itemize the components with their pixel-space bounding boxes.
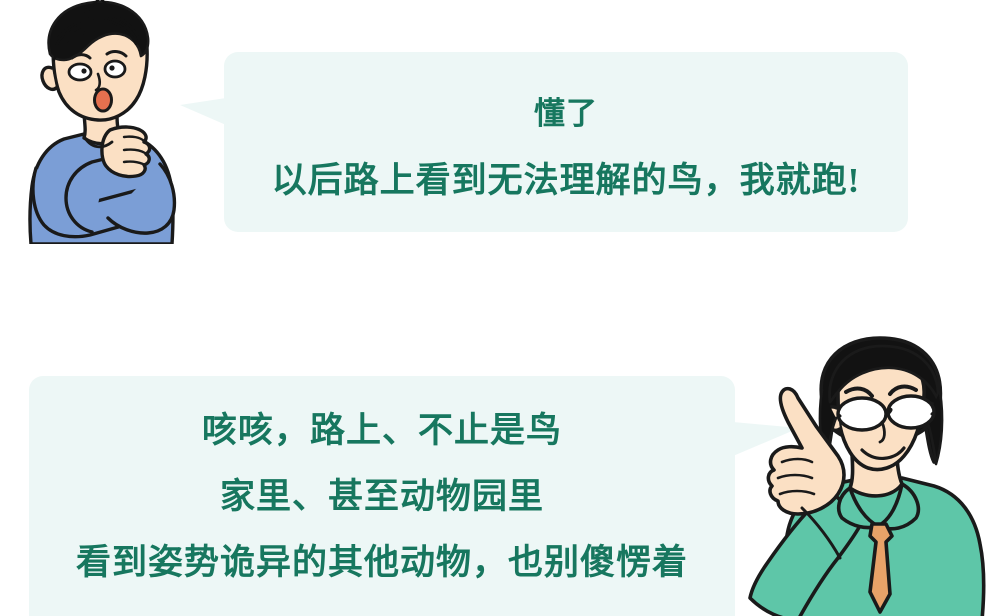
- boy-body: [30, 0, 174, 244]
- comic-panel: 懂了 以后路上看到无法理解的鸟，我就跑! 咳咳，路上、不止是鸟 家里、甚至动物园…: [0, 0, 992, 616]
- boy-character-illustration: [0, 0, 200, 244]
- teacher-body: [750, 338, 984, 616]
- speech-bubble-top: 懂了 以后路上看到无法理解的鸟，我就跑!: [224, 52, 908, 232]
- speech-bubble-bottom-line-3: 看到姿势诡异的其他动物，也别傻愣着: [29, 534, 735, 585]
- teacher-character-illustration: [690, 330, 992, 616]
- speech-bubble-bottom-line-1: 咳咳，路上、不止是鸟: [29, 402, 735, 453]
- speech-bubble-top-line-1: 懂了: [224, 88, 908, 133]
- speech-bubble-bottom: 咳咳，路上、不止是鸟 家里、甚至动物园里 看到姿势诡异的其他动物，也别傻愣着: [29, 376, 735, 616]
- speech-bubble-top-line-2: 以后路上看到无法理解的鸟，我就跑!: [224, 152, 908, 203]
- speech-bubble-bottom-line-2: 家里、甚至动物园里: [29, 468, 735, 519]
- speech-bubble-top-tail: [180, 98, 226, 125]
